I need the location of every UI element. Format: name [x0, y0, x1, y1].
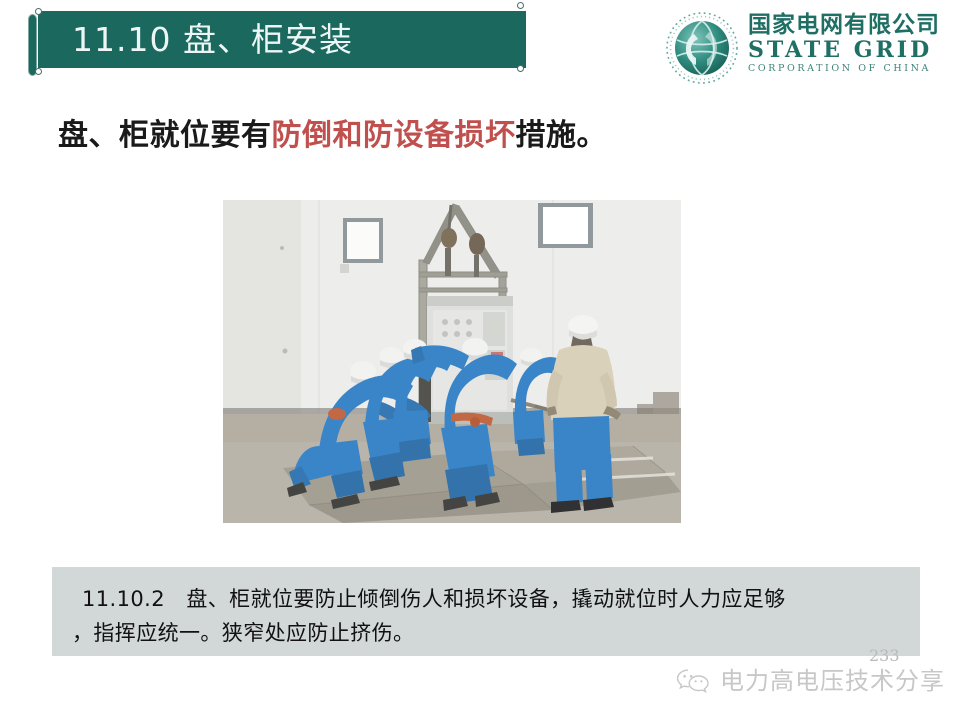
wechat-watermark-text: 电力高电压技术分享 [720, 666, 945, 696]
resize-handle-top-left[interactable] [35, 8, 42, 15]
wechat-icon [676, 667, 710, 695]
state-grid-logo: 国家电网有限公司 STATE GRID CORPORATION OF CHINA [664, 8, 948, 88]
heading-text-highlight: 防倒和防设备损坏 [272, 118, 516, 153]
logo-company-sub: CORPORATION OF CHINA [748, 62, 948, 76]
heading-text-before: 盘、柜就位要有 [58, 118, 272, 153]
caption-line-1: 11.10.2 盘、柜就位要防止倾倒伤人和损坏设备，撬动就位时人力应足够 [82, 585, 786, 613]
caption-box: 11.10.2 盘、柜就位要防止倾倒伤人和损坏设备，撬动就位时人力应足够 ，指挥… [52, 567, 920, 656]
slide-heading: 盘、柜就位要有防倒和防设备损坏措施。 [58, 115, 607, 157]
page-title: 11.10 盘、柜安装 [72, 18, 353, 62]
slide-canvas: 11.10 盘、柜安装 [0, 0, 960, 720]
logo-wordmark: 国家电网有限公司 STATE GRID CORPORATION OF CHINA [748, 12, 948, 76]
heading-text-after: 措施。 [516, 118, 608, 153]
caption-line-2: ，指挥应统一。狭窄处应防止挤伤。 [72, 619, 414, 647]
resize-handle-top-right[interactable] [517, 2, 524, 9]
logo-company-en: STATE GRID [748, 38, 948, 62]
installation-photo [223, 200, 681, 523]
wechat-watermark: 电力高电压技术分享 [676, 661, 945, 701]
resize-handle-bottom-left[interactable] [35, 68, 42, 75]
resize-handle-bottom-right[interactable] [517, 65, 524, 72]
logo-company-cn: 国家电网有限公司 [748, 12, 948, 38]
slide-title-block[interactable]: 11.10 盘、柜安装 [28, 11, 526, 68]
state-grid-globe-emblem-icon [664, 10, 740, 86]
title-accent-bar [28, 14, 37, 76]
